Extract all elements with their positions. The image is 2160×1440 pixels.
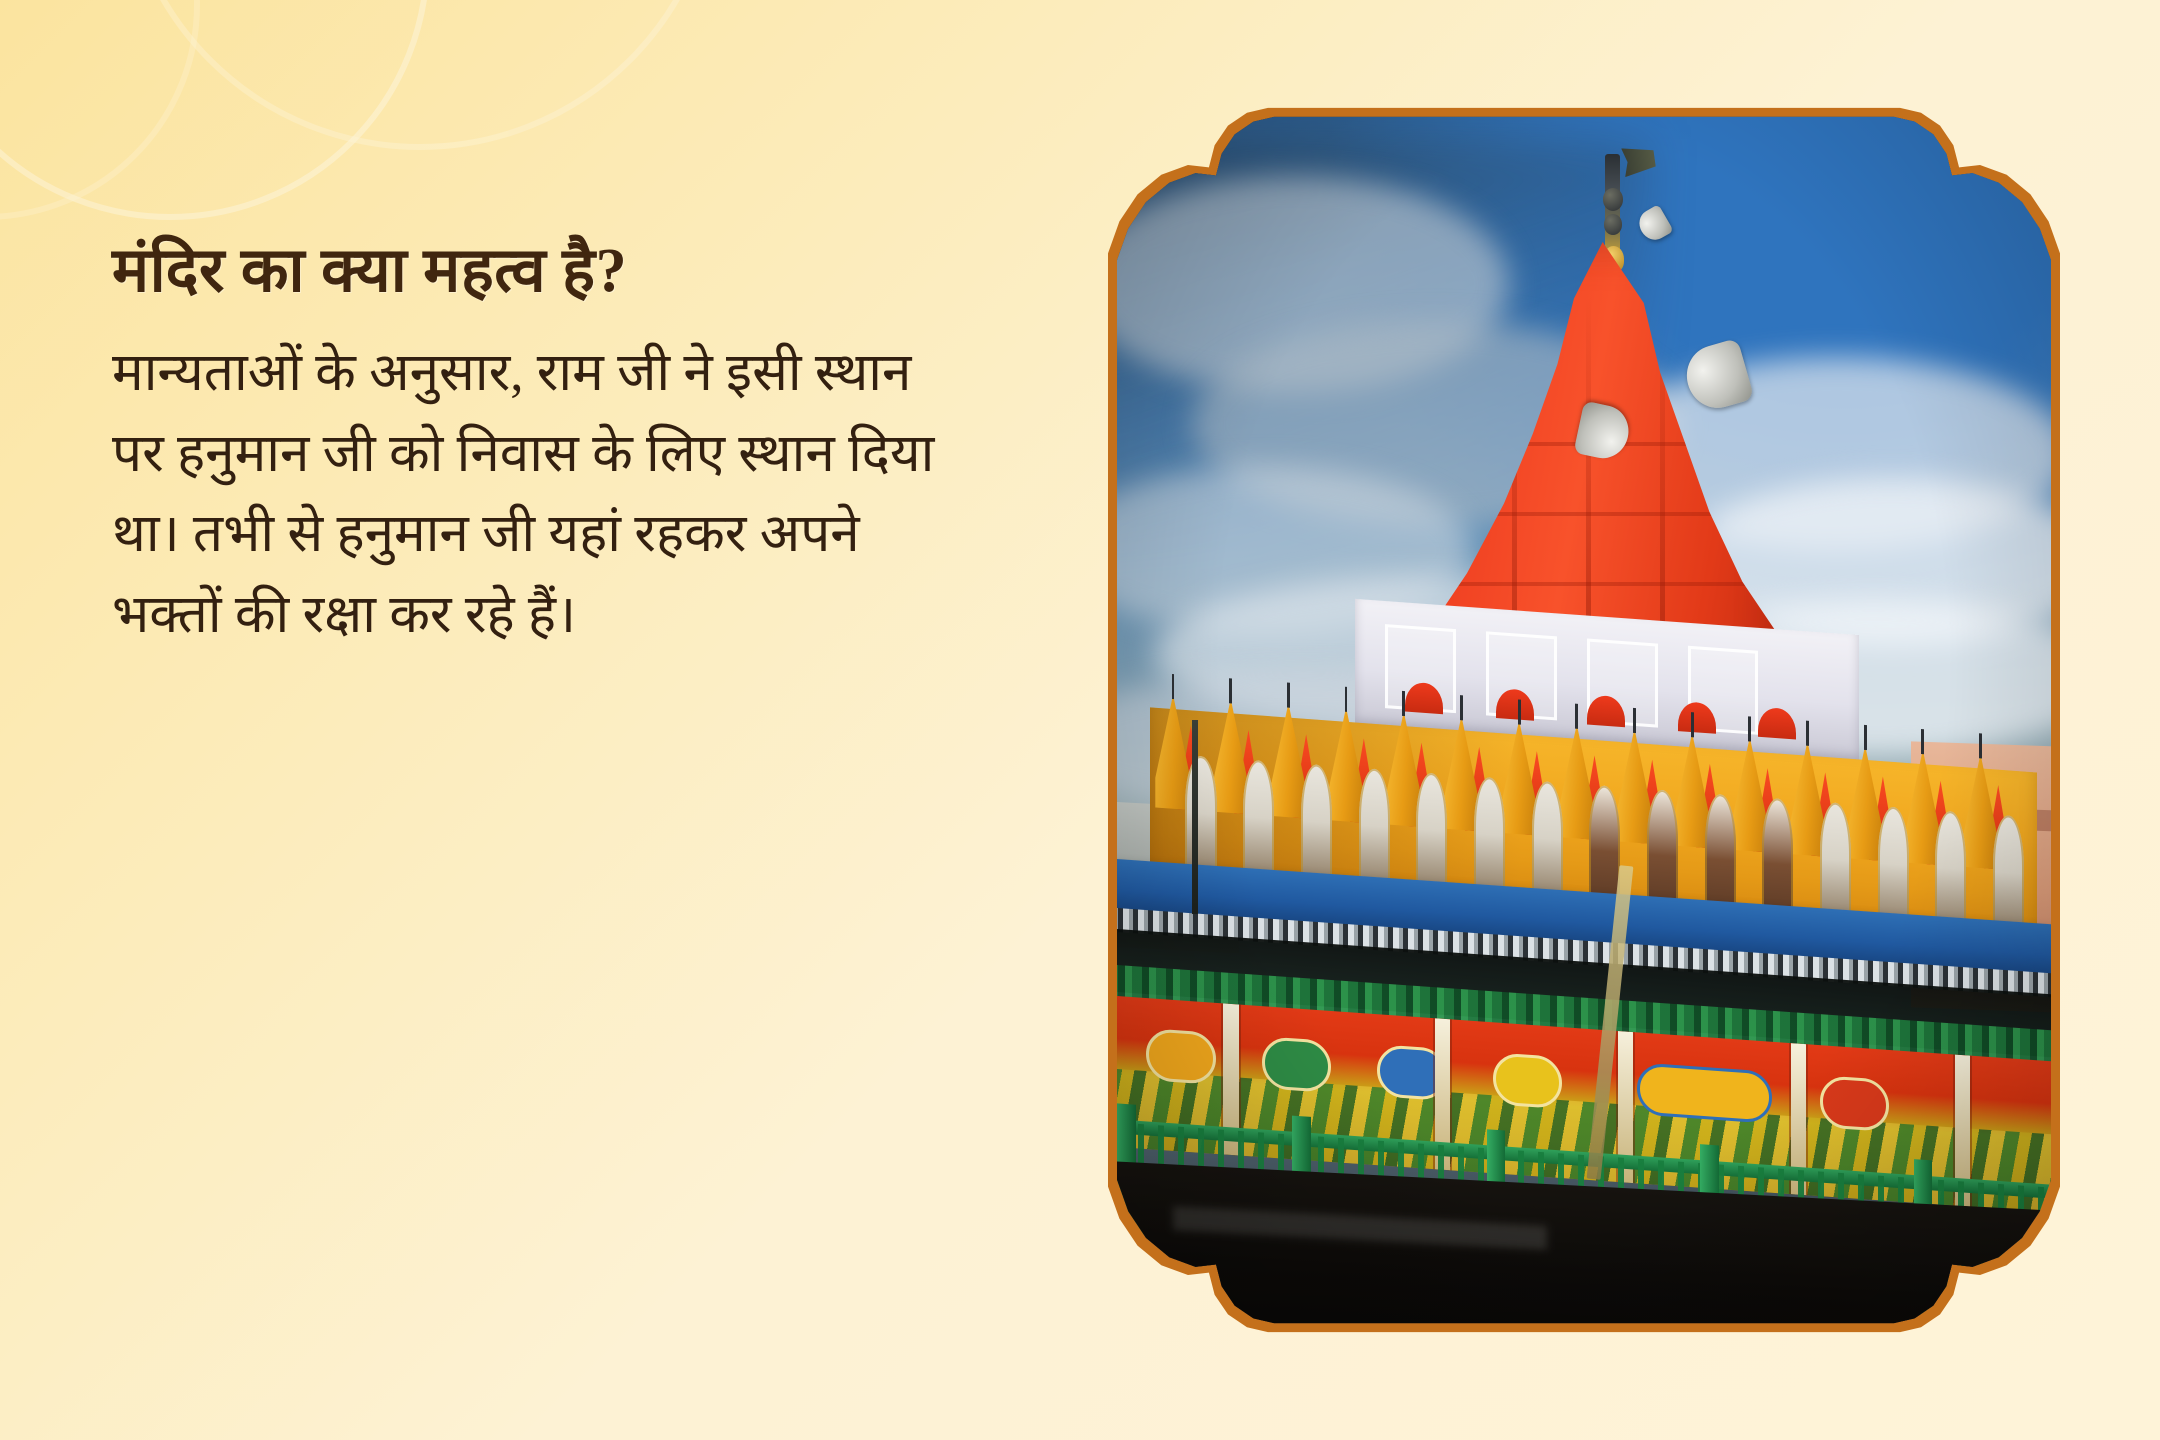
arcade-niche [1647, 789, 1678, 910]
ring-decoration-3 [0, 0, 200, 220]
painted-cartouche [1146, 1028, 1215, 1084]
arcade-niche [1243, 759, 1274, 880]
arcade-niche [1820, 801, 1851, 922]
arcade-niche [1301, 763, 1332, 884]
arcade-spire [1847, 744, 1882, 861]
arcade-spire [1674, 731, 1709, 848]
arcade-niche [1589, 784, 1620, 905]
ring-decoration-2 [120, 0, 720, 150]
arcade-niche [1185, 755, 1216, 876]
body-paragraph: मान्यताओं के अनुसार, राम जी ने इसी स्थान… [112, 333, 972, 655]
arcade-niche [1358, 767, 1389, 888]
text-column: मंदिर का क्या महत्व है? मान्यताओं के अनु… [112, 236, 992, 655]
arcade-spire [1328, 706, 1363, 823]
temple-photo [1117, 115, 2051, 1325]
painted-cartouche [1820, 1075, 1889, 1131]
ring-decoration-1 [0, 0, 430, 220]
photo-frame [1108, 106, 2060, 1334]
painted-cartouche [1492, 1052, 1561, 1108]
arcade-niche [1704, 793, 1735, 914]
arcade-niche [1993, 814, 2024, 935]
arcade-niche [1762, 797, 1793, 918]
page-title: मंदिर का क्या महत्व है? [112, 236, 992, 307]
painted-cartouche [1262, 1036, 1331, 1092]
finial-ball [1604, 214, 1623, 235]
arcade-niche [1935, 810, 1966, 931]
utility-pole [1192, 720, 1199, 914]
arcade-niche [1416, 772, 1447, 893]
tower-step [1426, 582, 1779, 586]
slide-canvas: मंदिर का क्या महत्व है? मान्यताओं के अनु… [0, 0, 2160, 1440]
arcade-spire [1501, 718, 1536, 835]
arcade-niche [1877, 805, 1908, 926]
finial-ball [1603, 188, 1624, 211]
arcade-niche [1531, 780, 1562, 901]
arcade-niche [1474, 776, 1505, 897]
painted-cartouche [1637, 1062, 1772, 1123]
